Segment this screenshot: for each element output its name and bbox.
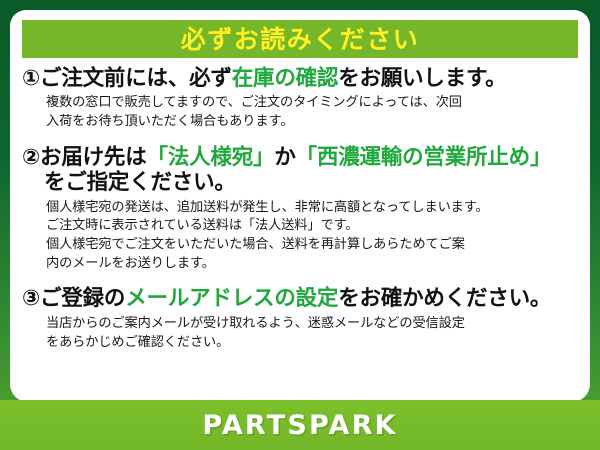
- item-1-marker: ①: [22, 66, 40, 91]
- item-2-headline: ②お届け先は「法人様宛」か「西濃運輸の営業所止め」: [22, 145, 580, 170]
- item-2-headline-highlight: 「法人様宛」: [147, 145, 275, 170]
- notice-item-2: ②お届け先は「法人様宛」か「西濃運輸の営業所止め」 をご指定ください。 個人様宅…: [22, 145, 580, 274]
- item-3-headline: ③ご登録のメールアドレスの設定をお確かめください。: [22, 286, 580, 311]
- item-1-headline-highlight: 在庫の確認: [232, 66, 339, 91]
- item-3-body-line-2: をあらかじめご確認ください。: [22, 334, 580, 353]
- item-3-headline-highlight: メールアドレスの設定: [125, 286, 338, 311]
- notice-banner: 必ずお読みください ①ご注文前には、必ず在庫の確認をお願いします。 複数の窓口で…: [0, 0, 600, 450]
- notice-item-3: ③ご登録のメールアドレスの設定をお確かめください。 当店からのご案内メールが受け…: [22, 286, 580, 352]
- item-1-headline: ①ご注文前には、必ず在庫の確認をお願いします。: [22, 66, 580, 91]
- item-2-marker: ②: [22, 145, 40, 170]
- brand-logo-text: PARTSPARK: [202, 412, 397, 439]
- footer-brand-bar: PARTSPARK: [0, 400, 600, 450]
- white-content-panel: 必ずお読みください ①ご注文前には、必ず在庫の確認をお願いします。 複数の窓口で…: [10, 10, 590, 402]
- item-3-marker: ③: [22, 286, 40, 311]
- item-1-body-line-1: 複数の窓口で販売してますので、ご注文のタイミングによっては、次回: [22, 94, 580, 113]
- item-2-body-line-4: 内のメールをお送りします。: [22, 255, 580, 274]
- item-2-headline-mid: か: [274, 145, 295, 170]
- notice-items: ①ご注文前には、必ず在庫の確認をお願いします。 複数の窓口で販売してますので、ご…: [10, 66, 590, 357]
- item-1-headline-post: をお願いします。: [338, 66, 506, 91]
- item-1-body-line-2: 入荷をお待ち頂いただく場合もあります。: [22, 113, 580, 132]
- item-3-headline-post: をお確かめください。: [338, 286, 551, 311]
- page-title: 必ずお読みください: [181, 27, 420, 52]
- item-3-headline-pre: ご登録の: [40, 286, 125, 311]
- item-1-headline-pre: ご注文前には、必ず: [40, 66, 232, 91]
- item-2-headline-highlight-2: 「西濃運輸の営業所止め」: [296, 145, 552, 170]
- item-2-headline-line-2: をご指定ください。: [22, 170, 580, 195]
- item-3-body-line-1: 当店からのご案内メールが受け取れるよう、迷惑メールなどの受信設定: [22, 315, 580, 334]
- item-2-body-line-3: 個人様宅宛でご注文をいただいた場合、送料を再計算しあらためてご案: [22, 236, 580, 255]
- notice-item-1: ①ご注文前には、必ず在庫の確認をお願いします。 複数の窓口で販売してますので、ご…: [22, 66, 580, 132]
- header-bar: 必ずお読みください: [22, 20, 578, 58]
- item-2-body-line-2: ご注文時に表示されている送料は「法人送料」です。: [22, 217, 580, 236]
- item-2-headline-pre: お届け先は: [40, 145, 147, 170]
- item-2-body-line-1: 個人様宅宛の発送は、追加送料が発生し、非常に高額となってしまいます。: [22, 199, 580, 218]
